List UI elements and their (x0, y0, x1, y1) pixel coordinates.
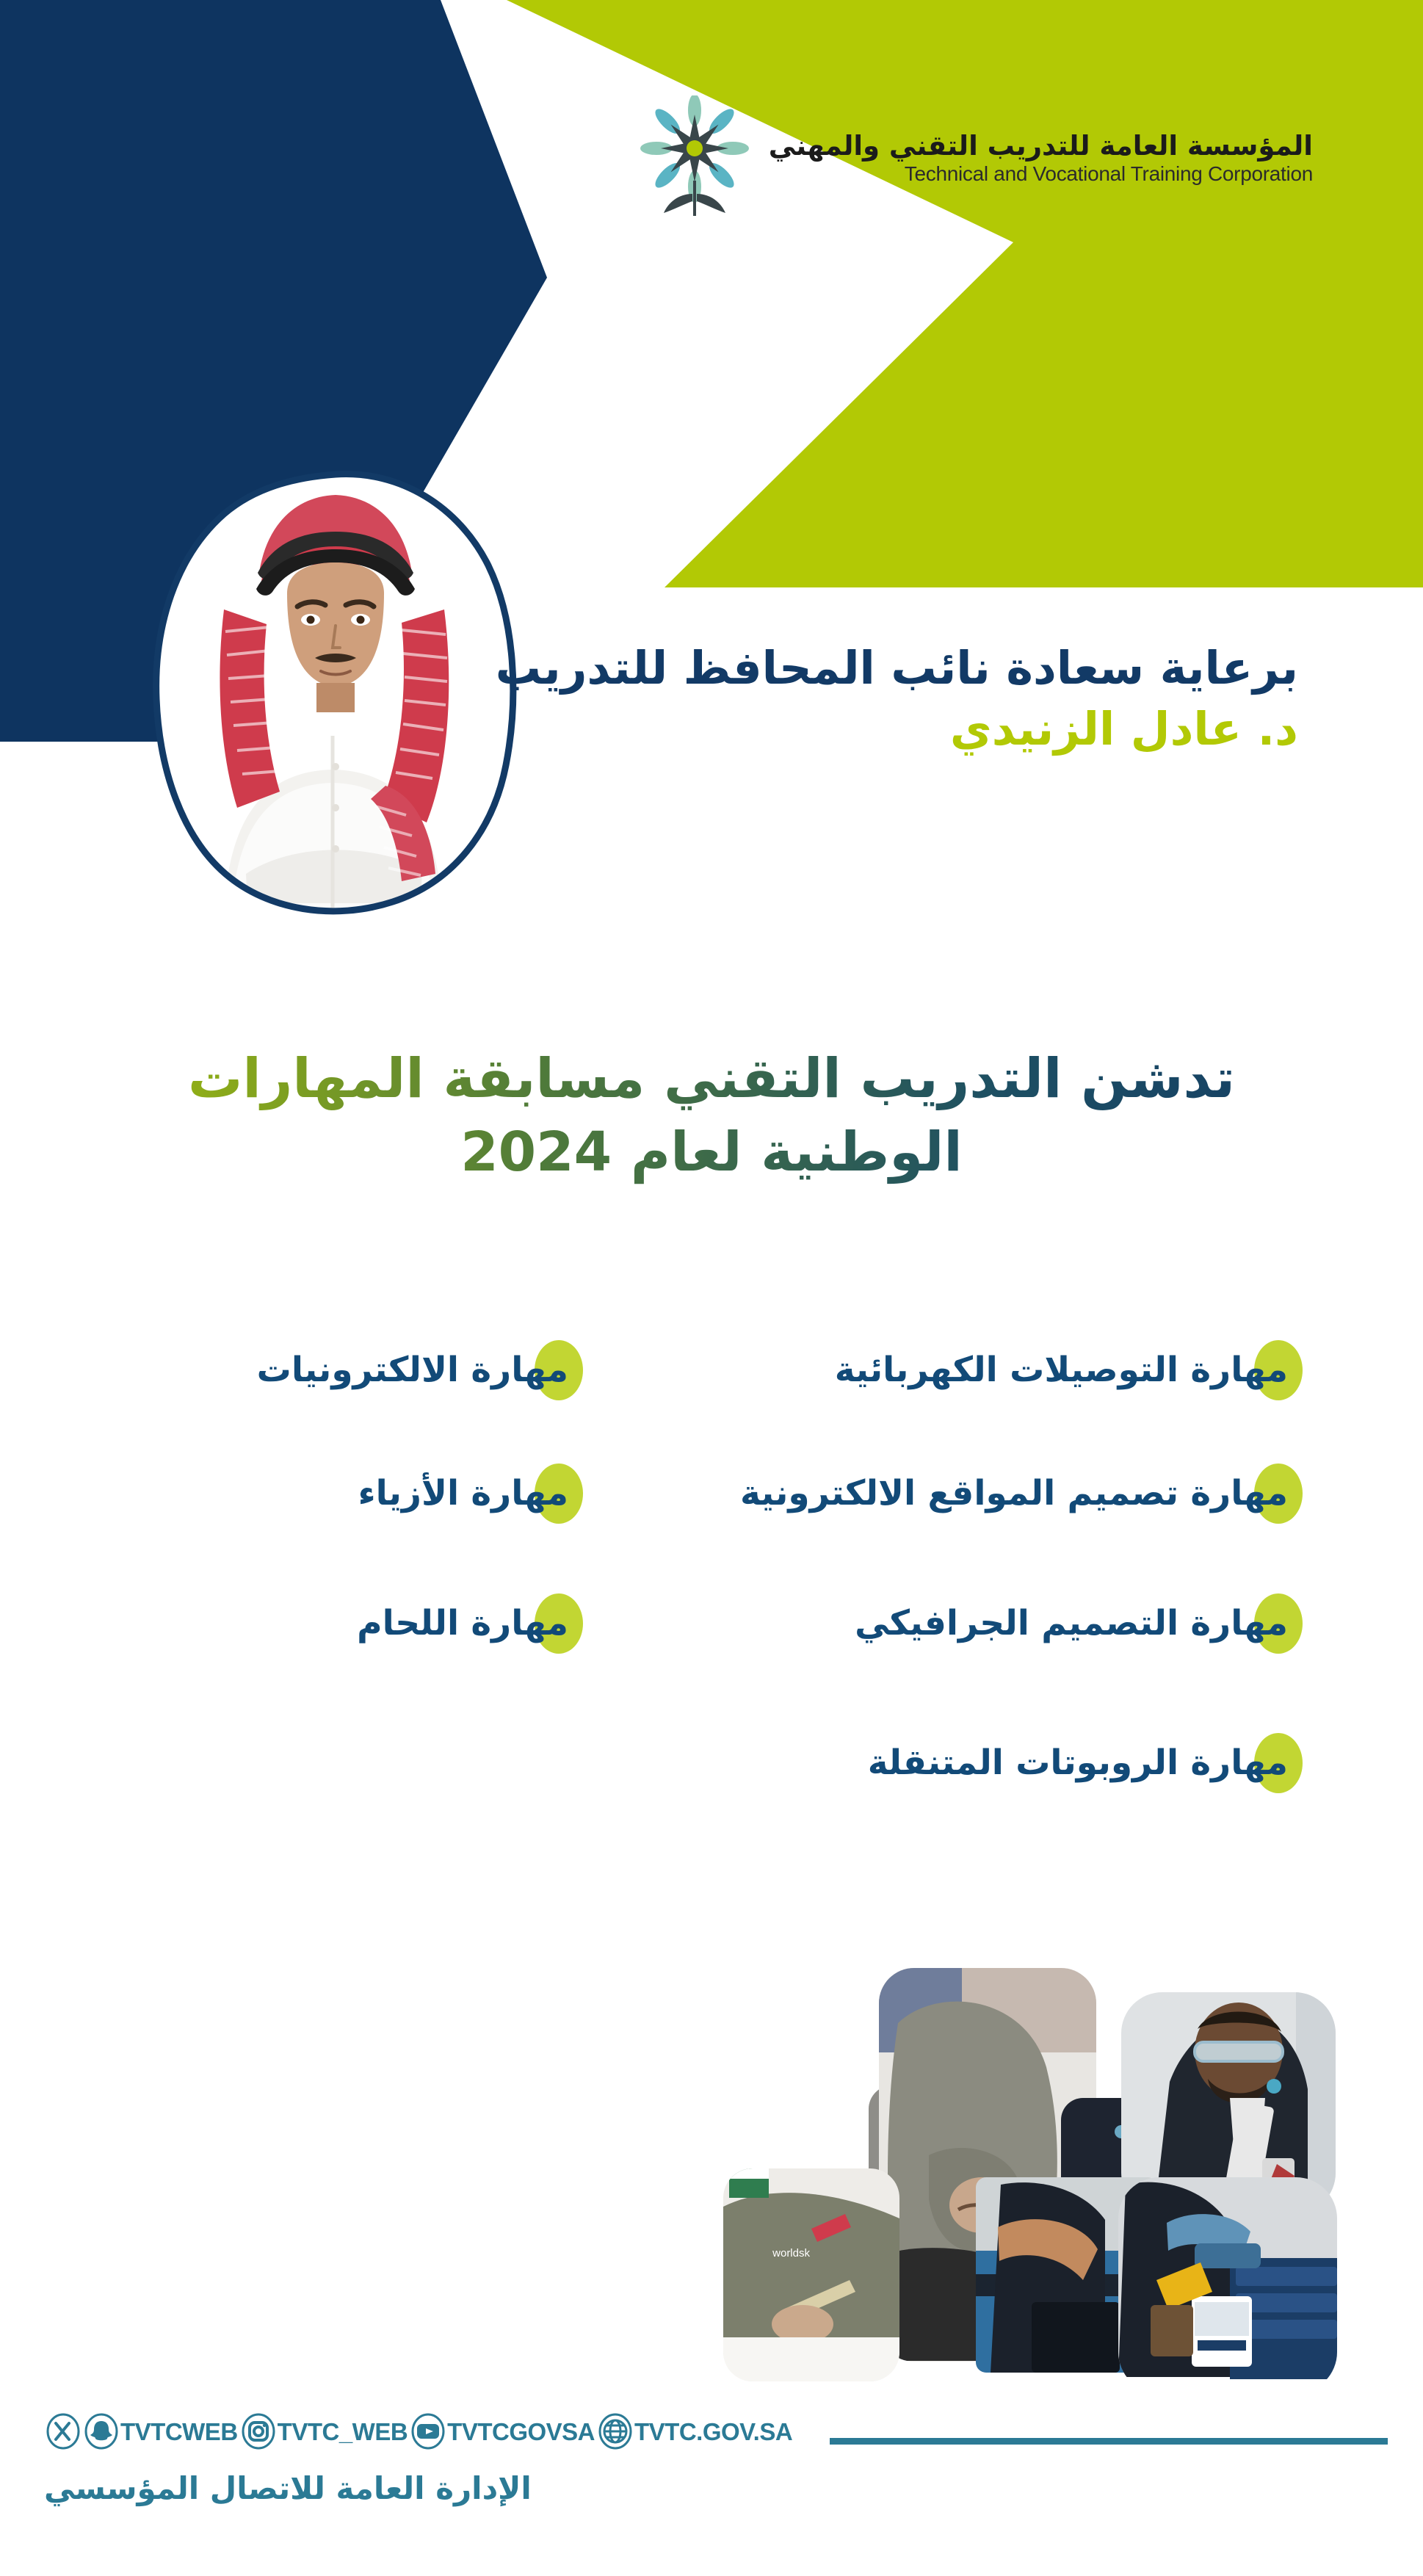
snapchat-icon[interactable] (83, 2413, 120, 2450)
youtube-icon[interactable] (410, 2413, 446, 2450)
patron-text-block: برعاية سعادة نائب المحافظ للتدريب د. عاد… (476, 639, 1298, 759)
tvtc-star-palm-logo-icon (640, 95, 750, 220)
skill-item-welding[interactable]: مهارة اللحام (357, 1603, 579, 1643)
tile-toolbox-gloves (1116, 2171, 1344, 2379)
green-corner-shape (507, 0, 1423, 587)
department-name: الإدارة العامة للاتصال المؤسسي (44, 2470, 532, 2506)
footer: TVTCWEB TVTC_WEB TVTCGOVSA (0, 2392, 1423, 2576)
snapchat-handle[interactable]: TVTCWEB (120, 2420, 238, 2444)
photo-collage: worldsk (716, 1935, 1347, 2394)
x-twitter-icon[interactable] (45, 2413, 82, 2450)
collage-tiles: worldsk (716, 1935, 1347, 2394)
patron-name: د. عادل الزنيدي (476, 700, 1298, 758)
instagram-icon[interactable] (240, 2413, 277, 2450)
svg-text:worldsk: worldsk (772, 2247, 810, 2260)
skill-label: مهارة التصميم الجرافيكي (855, 1603, 1298, 1643)
skill-label: مهارة اللحام (357, 1603, 579, 1643)
skill-item-electrical-connections[interactable]: مهارة التوصيلات الكهربائية (835, 1350, 1298, 1390)
skill-label: مهارة الأزياء (358, 1473, 579, 1513)
globe-icon[interactable] (597, 2413, 634, 2450)
skill-item-graphic-design[interactable]: مهارة التصميم الجرافيكي (855, 1603, 1298, 1643)
skill-item-web-design[interactable]: مهارة تصميم المواقع الالكترونية (740, 1473, 1298, 1513)
logo-arabic-name: المؤسسة العامة للتدريب التقني والمهني (769, 131, 1313, 160)
portrait-squircle-frame-icon (143, 463, 525, 918)
patron-portrait (143, 463, 525, 918)
skill-item-fashion[interactable]: مهارة الأزياء (358, 1473, 579, 1513)
skill-label: مهارة التوصيلات الكهربائية (835, 1350, 1298, 1390)
youtube-handle[interactable]: TVTCGOVSA (447, 2420, 595, 2444)
tvtc-logo: المؤسسة العامة للتدريب التقني والمهني Te… (640, 95, 1313, 220)
logo-text: المؤسسة العامة للتدريب التقني والمهني Te… (769, 131, 1313, 185)
tile-woman-writing: worldsk (723, 2163, 907, 2383)
poster-root: المؤسسة العامة للتدريب التقني والمهني Te… (0, 0, 1423, 2576)
page-title: تدشن التدريب التقني مسابقة المهارات الوط… (0, 1043, 1423, 1190)
skill-label: مهارة تصميم المواقع الالكترونية (740, 1473, 1298, 1513)
skill-label: مهارة الالكترونيات (257, 1350, 579, 1390)
website-handle[interactable]: TVTC.GOV.SA (634, 2420, 792, 2444)
footer-divider (830, 2438, 1388, 2445)
patron-title: برعاية سعادة نائب المحافظ للتدريب (476, 639, 1298, 697)
skill-label: مهارة الروبوتات المتنقلة (868, 1743, 1298, 1783)
skills-list: مهارة التوصيلات الكهربائية مهارة تصميم ا… (0, 1350, 1423, 1864)
skill-item-mobile-robotics[interactable]: مهارة الروبوتات المتنقلة (868, 1743, 1298, 1783)
instagram-handle[interactable]: TVTC_WEB (278, 2420, 408, 2444)
skill-item-electronics[interactable]: مهارة الالكترونيات (257, 1350, 579, 1390)
logo-english-name: Technical and Vocational Training Corpor… (769, 163, 1313, 185)
social-links-row: TVTCWEB TVTC_WEB TVTCGOVSA (44, 2413, 794, 2450)
